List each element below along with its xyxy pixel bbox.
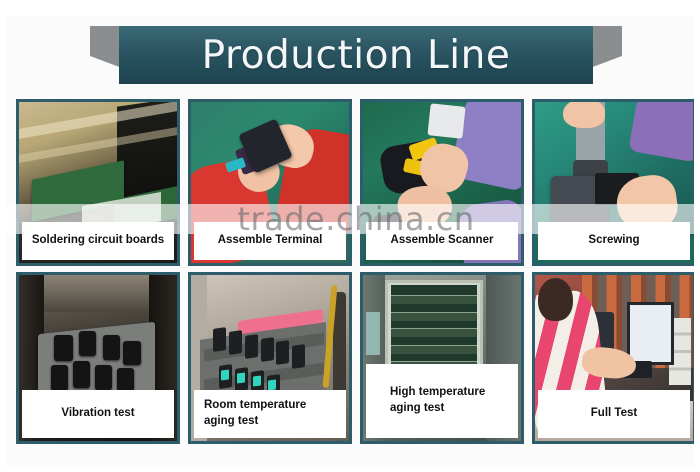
tile-caption: Soldering circuit boards [22,222,174,260]
page-title: Production Line [202,36,511,75]
gallery-tile-room-temperature-aging-test[interactable]: Room temperature aging test [188,272,352,444]
gallery-tile-soldering-circuit-boards[interactable]: Soldering circuit boards [16,99,180,266]
gallery-tile-high-temperature-aging-test[interactable]: High temperature aging test [360,272,524,444]
banner: Production Line [6,26,700,86]
ribbon-tail-left-icon [90,26,122,84]
banner-ribbon: Production Line [119,26,593,84]
tile-caption: Room temperature aging test [194,390,346,438]
gallery-tile-screwing[interactable]: Screwing [532,99,696,266]
gallery-tile-assemble-terminal[interactable]: Assemble Terminal [188,99,352,266]
gallery-tile-assemble-scanner[interactable]: Assemble Scanner [360,99,524,266]
production-line-page: Production Line Soldering circuit boards… [0,0,700,472]
production-line-gallery: Soldering circuit boards Assemble Termin… [16,99,696,444]
tile-caption: Assemble Terminal [194,222,346,260]
gallery-tile-full-test[interactable]: Full Test [532,272,696,444]
tile-caption: Screwing [538,222,690,260]
tile-caption: High temperature aging test [366,364,518,438]
tile-caption: Full Test [538,390,690,438]
ribbon-tail-right-icon [590,26,622,84]
tile-caption: Vibration test [22,390,174,438]
tile-caption: Assemble Scanner [366,222,518,260]
gallery-tile-vibration-test[interactable]: Vibration test [16,272,180,444]
